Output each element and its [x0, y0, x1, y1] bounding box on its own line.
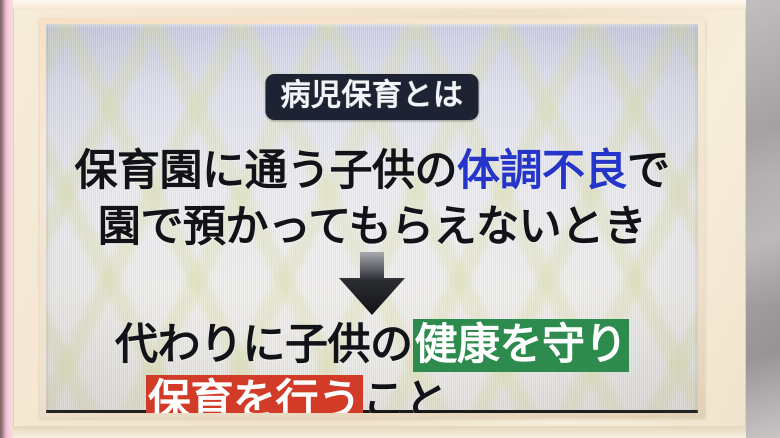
caption-board-panel: 病児保育とは 保育園に通う子供の体調不良で 園で預かってもらえないとき: [46, 24, 698, 413]
photo-scene: 病児保育とは 保育園に通う子供の体調不良で 園で預かってもらえないとき: [0, 0, 780, 438]
caption-line-1: 保育園に通う子供の体調不良で: [46, 146, 698, 196]
frame-bevel-top: [13, 0, 746, 9]
title-badge-label: 病児保育とは: [281, 78, 464, 114]
caption-line-4: 保育を行うこと: [46, 376, 698, 413]
wall-right-marble: [746, 0, 780, 438]
caption-line-1-segment-1: 保育園に通う子供の: [75, 147, 458, 195]
wall-left-pink: [0, 0, 13, 438]
caption-line-2: 園で預かってもらえないとき: [46, 202, 698, 252]
caption-line-1-segment-2-emphasis: 体調不良: [457, 147, 627, 195]
caption-line-4-segment-1-highlight: 保育を行う: [146, 375, 363, 413]
caption-line-3-segment-2-highlight: 健康を守り: [413, 319, 630, 372]
caption-line-3-segment-1: 代わりに子供の: [115, 321, 413, 369]
frame-bevel-bottom: [13, 426, 746, 438]
title-badge: 病児保育とは: [266, 74, 479, 120]
arrow-down-icon: [336, 252, 408, 316]
picture-frame: 病児保育とは 保育園に通う子供の体調不良で 園で預かってもらえないとき: [13, 0, 746, 438]
caption-line-2-segment-1: 園で預かってもらえないとき: [98, 203, 646, 251]
caption-line-4-segment-2: こと: [363, 377, 448, 413]
arrow-down-glyph: [336, 252, 408, 316]
caption-line-3: 代わりに子供の健康を守り: [46, 320, 698, 370]
caption-line-1-segment-3: で: [627, 147, 670, 195]
caption-board-content: 病児保育とは 保育園に通う子供の体調不良で 園で預かってもらえないとき: [46, 24, 698, 413]
